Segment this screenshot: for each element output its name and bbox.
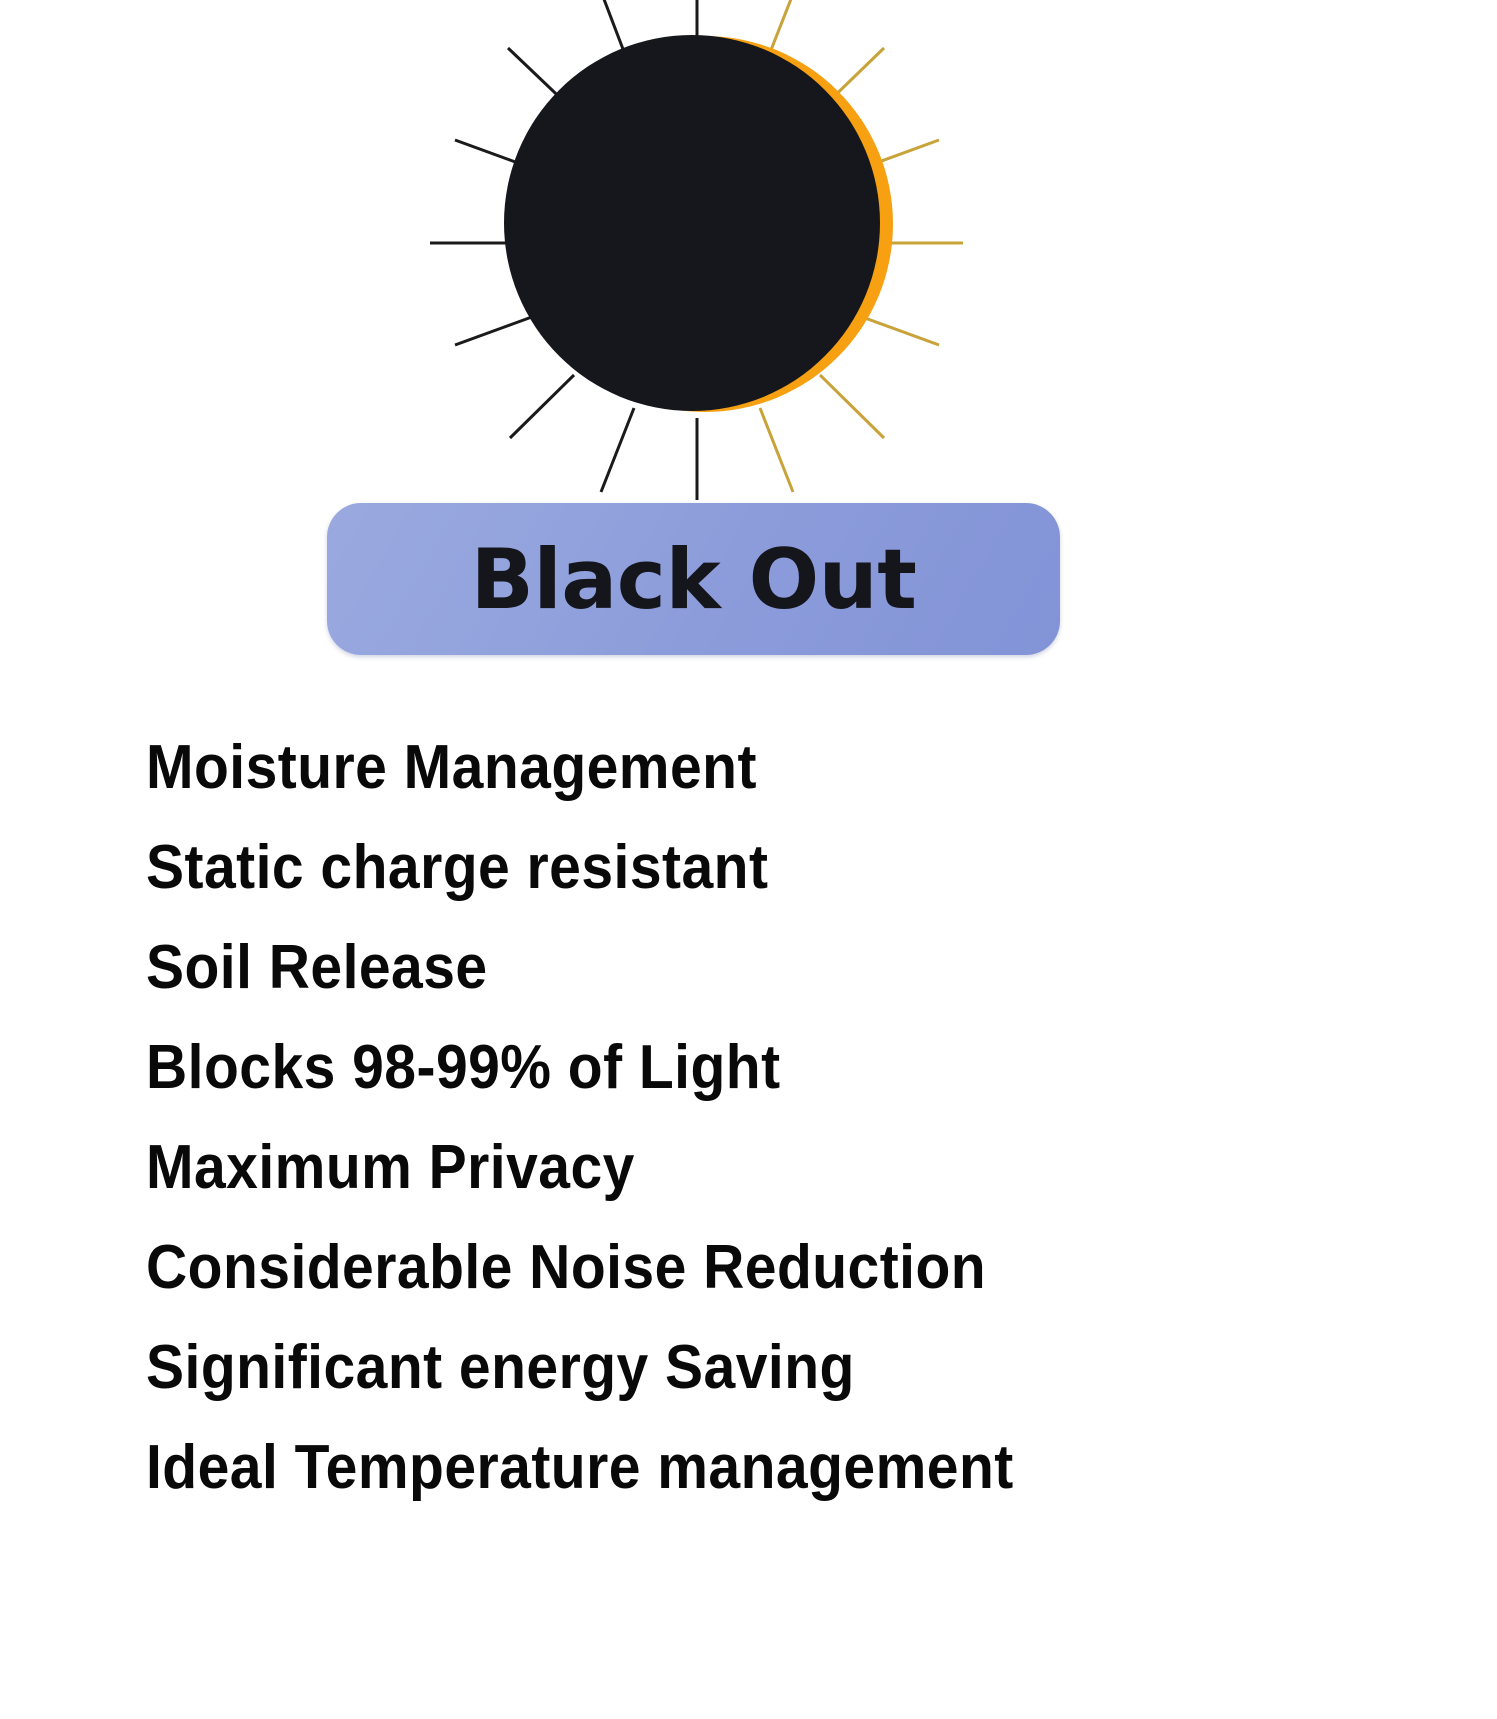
list-item: Static charge resistant xyxy=(146,818,1370,918)
black-out-banner[interactable]: Black Out xyxy=(327,503,1060,655)
eclipse-dark-disc xyxy=(504,35,880,411)
black-out-label: Black Out xyxy=(471,538,917,621)
list-item: Soil Release xyxy=(146,918,1370,1018)
list-item: Considerable Noise Reduction xyxy=(146,1218,1370,1318)
feature-list: Moisture Management Static charge resist… xyxy=(146,718,1476,1518)
list-item: Significant energy Saving xyxy=(146,1318,1370,1418)
list-item: Ideal Temperature management xyxy=(146,1418,1370,1518)
eclipse-sun-graphic xyxy=(0,0,1497,500)
list-item: Moisture Management xyxy=(146,718,1370,818)
list-item: Maximum Privacy xyxy=(146,1118,1370,1218)
list-item: Blocks 98-99% of Light xyxy=(146,1018,1370,1118)
